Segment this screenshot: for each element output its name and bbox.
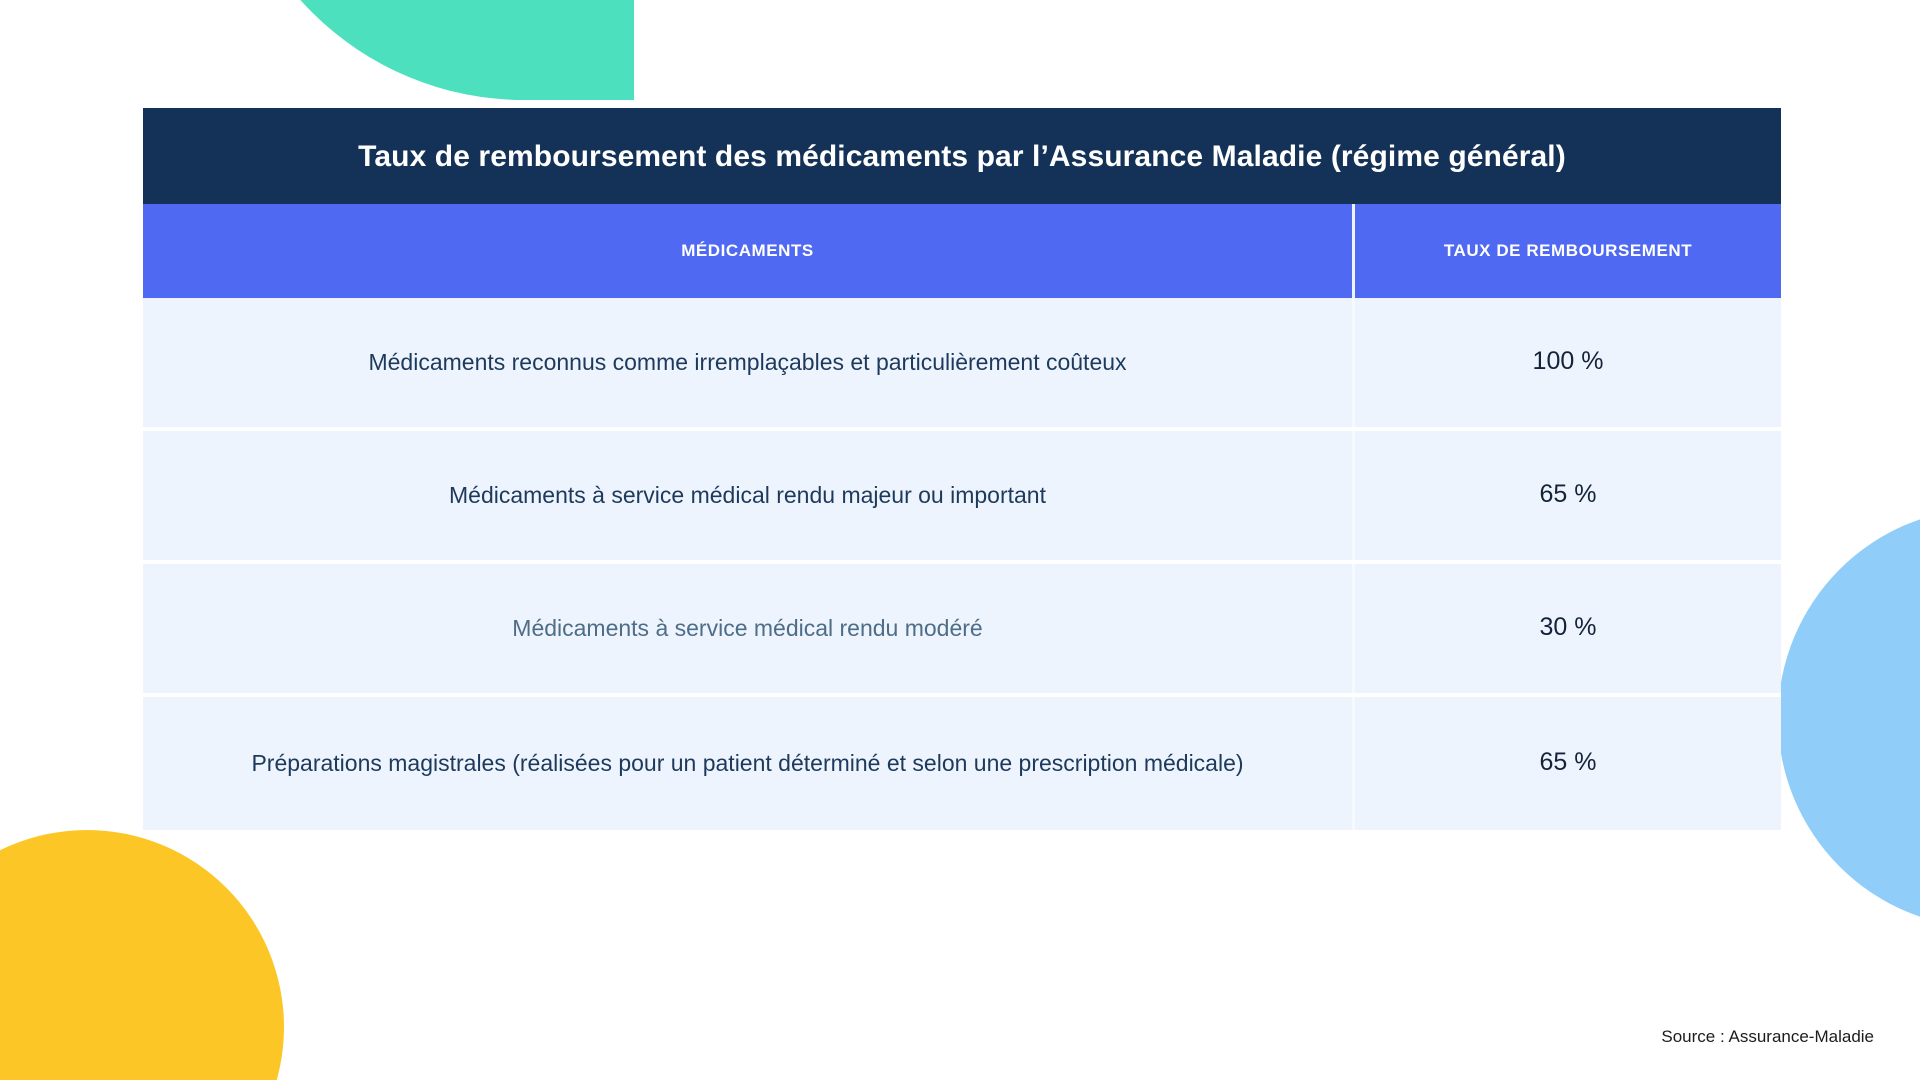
cell-taux: 100 %	[1355, 298, 1781, 427]
cell-taux: 65 %	[1355, 697, 1781, 830]
table-header-row: MÉDICAMENTS TAUX DE REMBOURSEMENT	[143, 204, 1781, 298]
cell-medicament: Médicaments à service médical rendu maje…	[143, 431, 1355, 560]
source-note: Source : Assurance-Maladie	[1661, 1027, 1874, 1047]
table-row: Médicaments à service médical rendu maje…	[143, 431, 1781, 564]
teal-blob-shape	[224, 0, 634, 100]
blue-blob-shape	[1778, 508, 1920, 928]
table-title: Taux de remboursement des médicaments pa…	[143, 108, 1781, 204]
column-header-medicaments: MÉDICAMENTS	[143, 204, 1355, 298]
cell-medicament: Médicaments reconnus comme irremplaçable…	[143, 298, 1355, 427]
table-body: Médicaments reconnus comme irremplaçable…	[143, 298, 1781, 830]
cell-taux: 65 %	[1355, 431, 1781, 560]
reimbursement-table: Taux de remboursement des médicaments pa…	[143, 108, 1781, 830]
cell-medicament: Médicaments à service médical rendu modé…	[143, 564, 1355, 693]
cell-medicament: Préparations magistrales (réalisées pour…	[143, 697, 1355, 830]
table-row: Médicaments à service médical rendu modé…	[143, 564, 1781, 697]
table-row: Médicaments reconnus comme irremplaçable…	[143, 298, 1781, 431]
table-row: Préparations magistrales (réalisées pour…	[143, 697, 1781, 830]
column-header-taux: TAUX DE REMBOURSEMENT	[1355, 204, 1781, 298]
cell-taux: 30 %	[1355, 564, 1781, 693]
yellow-blob-shape	[0, 830, 284, 1080]
